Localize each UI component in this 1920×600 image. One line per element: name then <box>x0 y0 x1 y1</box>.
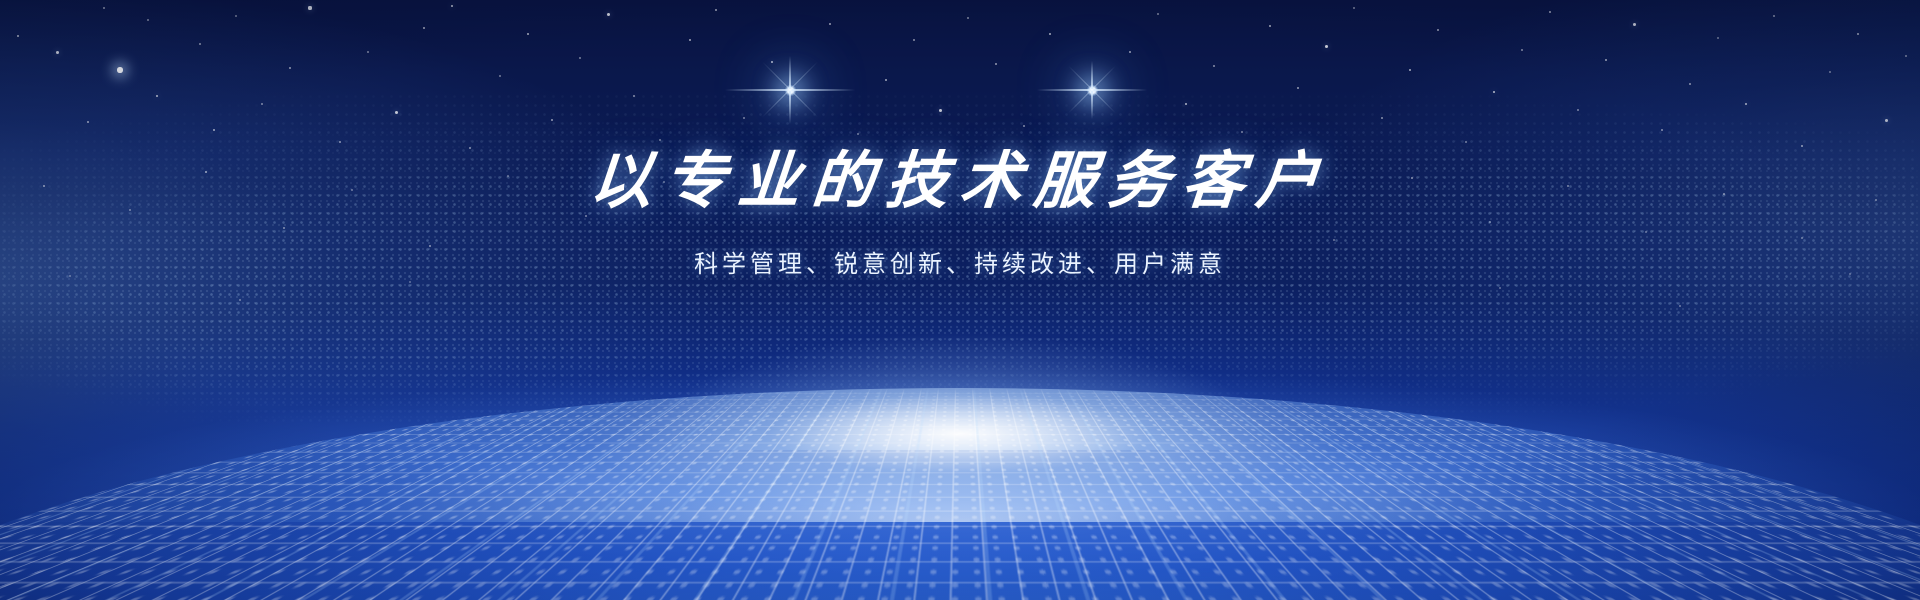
flare-ray <box>725 89 855 91</box>
banner-copy: 以专业的技术服务客户 科学管理、锐意创新、持续改进、用户满意 <box>0 150 1920 279</box>
flare-ray <box>1037 89 1147 91</box>
hero-banner: 以专业的技术服务客户 科学管理、锐意创新、持续改进、用户满意 <box>0 0 1920 600</box>
banner-subline: 科学管理、锐意创新、持续改进、用户满意 <box>0 244 1920 279</box>
banner-headline: 以专业的技术服务客户 <box>0 150 1920 216</box>
